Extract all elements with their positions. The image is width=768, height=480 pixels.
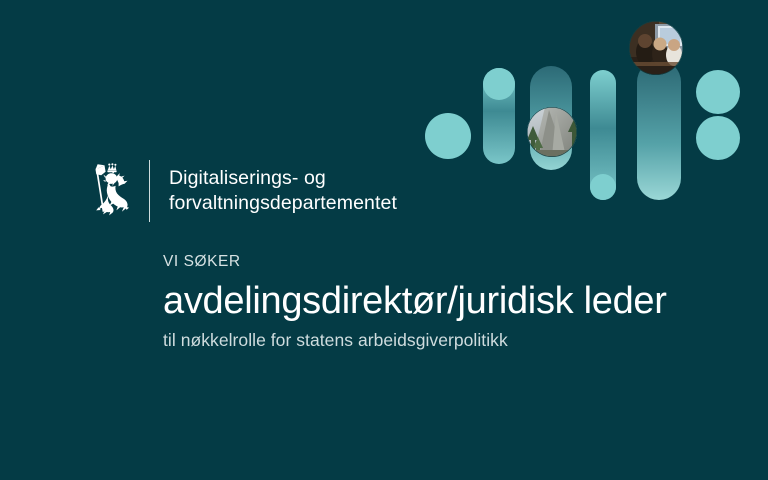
ministry-name-line-1: Digitaliserings- og <box>169 166 397 191</box>
pill-gradient-4 <box>590 70 616 200</box>
norwegian-coat-of-arms-lion-icon <box>88 160 130 222</box>
eyebrow-label: VI SØKER <box>163 252 667 272</box>
circle-solid-6 <box>696 70 740 114</box>
job-title-headline: avdelingsdirektør/juridisk leder <box>163 278 667 324</box>
job-ad-copy: VI SØKER avdelingsdirektør/juridisk lede… <box>163 252 667 352</box>
photo-building-facade <box>527 107 582 157</box>
ministry-logo-lockup: Digitaliserings- og forvaltningsdepartem… <box>88 158 397 224</box>
ministry-name-line-2: forvaltningsdepartementet <box>169 191 397 216</box>
job-ad-banner: Digitaliserings- og forvaltningsdepartem… <box>0 0 768 480</box>
pill-2-cap <box>483 68 515 100</box>
pill-gradient-5 <box>637 60 681 200</box>
pill-gradient-3 <box>530 66 572 170</box>
circle-solid-1 <box>425 113 471 159</box>
pill-gradient-2 <box>483 68 515 164</box>
circle-solid-7 <box>696 116 740 160</box>
job-subtitle: til nøkkelrolle for statens arbeidsgiver… <box>163 328 667 352</box>
ministry-name: Digitaliserings- og forvaltningsdepartem… <box>169 166 397 216</box>
pill-4-cap <box>590 174 616 200</box>
logo-divider <box>149 160 150 222</box>
photo-meeting-room <box>629 21 683 75</box>
